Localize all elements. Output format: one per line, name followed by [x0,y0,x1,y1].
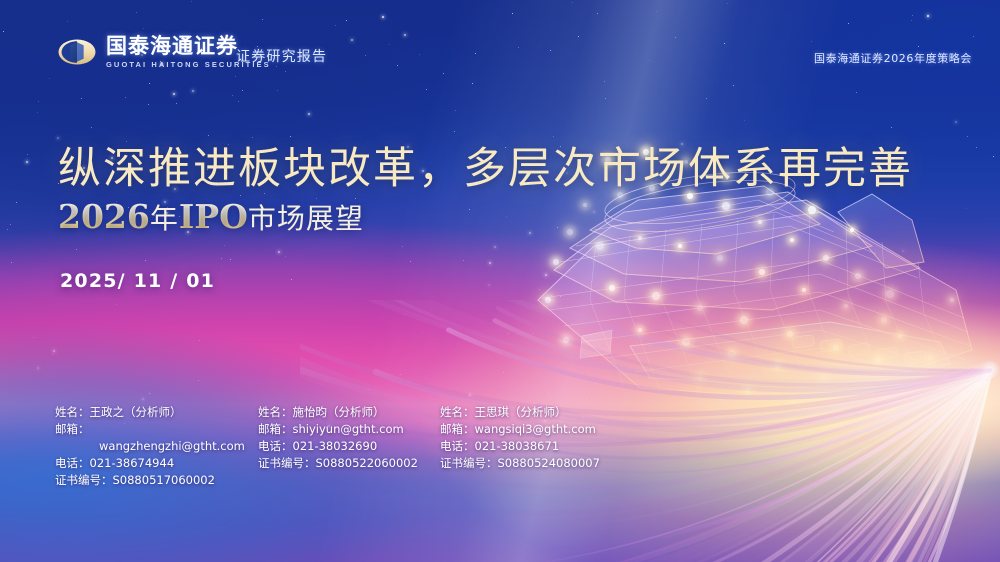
analyst-cert-label: 证书编号： [440,456,498,470]
analyst-email-label: 邮箱： [55,422,90,436]
analyst-cert-row: 证书编号：S0880524080007 [440,455,640,472]
subtitle-tail: 市场展望 [248,202,364,235]
subtitle-year: 2026 [58,197,150,236]
guotai-haitong-eye-logo-icon [58,39,96,65]
subtitle-ipo: IPO [179,197,248,236]
analyst-contact-block: 姓名：王政之（分析师） 邮箱：wangzhengzhi@gtht.com 电话：… [55,404,235,489]
analyst-email-row: 邮箱：shiyiyun@gtht.com [258,421,448,438]
analyst-phone: 021-38038671 [475,439,560,453]
analyst-email-row: 邮箱：wangsiqi3@gtht.com [440,421,640,438]
header: 国泰海通证券 GUOTAI HAITONG SECURITIES 证券研究报告 … [0,0,1000,92]
publication-date: 2025/ 11 / 01 [60,270,215,292]
analyst-name: 王思琪（分析师） [475,405,567,419]
analyst-name-row: 姓名：王政之（分析师） [55,404,235,421]
analyst-phone-label: 电话： [55,456,90,470]
analyst-name-label: 姓名： [258,405,293,419]
analyst-phone-row: 电话：021-38032690 [258,438,448,455]
report-cover-slide: 国泰海通证券 GUOTAI HAITONG SECURITIES 证券研究报告 … [0,0,1000,562]
analyst-phone-label: 电话： [440,439,475,453]
analyst-email-row: 邮箱：wangzhengzhi@gtht.com [55,421,235,455]
analyst-name-label: 姓名： [440,405,475,419]
analyst-name-label: 姓名： [55,405,90,419]
analyst-name: 王政之（分析师） [90,405,182,419]
analyst-cert-row: 证书编号：S0880522060002 [258,455,448,472]
analyst-cert-row: 证书编号：S0880517060002 [55,472,235,489]
analyst-name-row: 姓名：施怡昀（分析师） [258,404,448,421]
analyst-name-row: 姓名：王思琪（分析师） [440,404,640,421]
analyst-contact-block: 姓名：王思琪（分析师） 邮箱：wangsiqi3@gtht.com 电话：021… [440,404,640,472]
analyst-cert-label: 证书编号： [55,473,113,487]
analyst-email[interactable]: shiyiyun@gtht.com [293,422,404,436]
analyst-phone-row: 电话：021-38038671 [440,438,640,455]
analyst-email-label: 邮箱： [258,422,293,436]
analyst-cert: S0880522060002 [316,456,418,470]
analyst-email[interactable]: wangsiqi3@gtht.com [475,422,596,436]
analyst-email-label: 邮箱： [440,422,475,436]
analyst-cert: S0880517060002 [113,473,215,487]
analyst-name: 施怡昀（分析师） [293,405,385,419]
analyst-phone-label: 电话： [258,439,293,453]
analyst-phone-row: 电话：021-38674944 [55,455,235,472]
analyst-cert: S0880524080007 [498,456,600,470]
report-kind-label: 证券研究报告 [236,46,327,66]
analyst-contacts: 姓名：王政之（分析师） 邮箱：wangzhengzhi@gtht.com 电话：… [0,404,1000,524]
analyst-phone: 021-38032690 [293,439,378,453]
event-tag-label: 国泰海通证券2026年度策略会 [814,50,972,66]
page-subtitle: 2026年IPO市场展望 [58,200,364,233]
subtitle-year-unit: 年 [150,202,179,235]
page-title: 纵深推进板块改革，多层次市场体系再完善 [58,134,958,196]
analyst-phone: 021-38674944 [90,456,175,470]
analyst-cert-label: 证书编号： [258,456,316,470]
analyst-contact-block: 姓名：施怡昀（分析师） 邮箱：shiyiyun@gtht.com 电话：021-… [258,404,448,472]
analyst-email[interactable]: wangzhengzhi@gtht.com [55,439,245,453]
